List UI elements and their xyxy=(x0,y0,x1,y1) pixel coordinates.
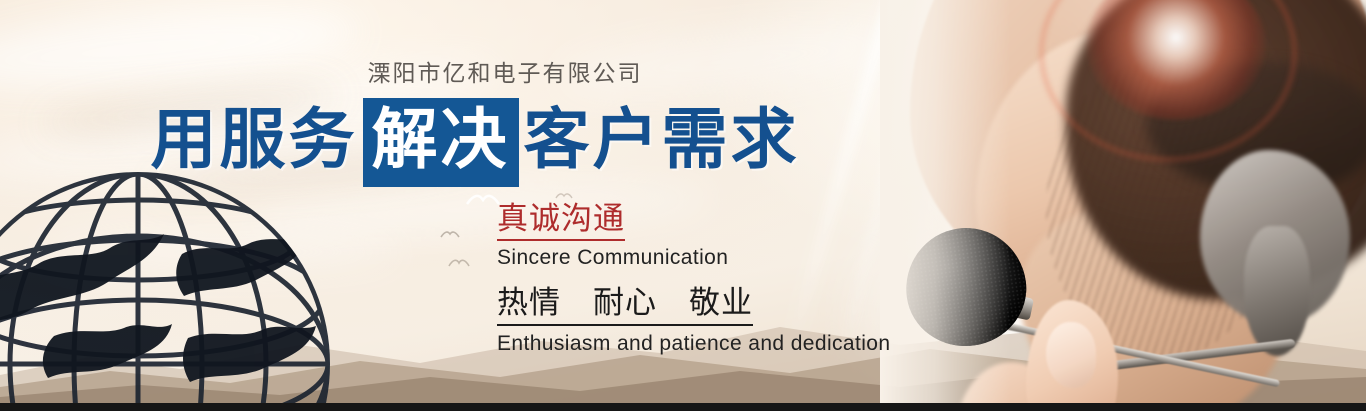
headset-earhook xyxy=(1244,226,1310,356)
headline-before: 用服务 xyxy=(151,101,358,178)
company-name: 溧阳市亿和电子有限公司 xyxy=(0,54,900,88)
banner-text-content: 溧阳市亿和电子有限公司 用服务解决客户需求 真诚沟通 Sincere Commu… xyxy=(0,0,900,403)
bottom-bar xyxy=(0,403,1366,411)
slogan-cn-sincere: 真诚沟通 xyxy=(497,200,625,241)
slogan-row-1: 真诚沟通 Sincere Communication xyxy=(497,200,890,273)
slogan-block: 真诚沟通 Sincere Communication 热情 耐心 敬业 Enth… xyxy=(497,200,890,359)
hero-banner: 溧阳市亿和电子有限公司 用服务解决客户需求 真诚沟通 Sincere Commu… xyxy=(0,0,1366,411)
headset-operator-photo xyxy=(880,0,1366,403)
headline-after: 客户需求 xyxy=(524,101,800,178)
headline: 用服务解决客户需求 xyxy=(0,98,900,187)
fingernail-shape xyxy=(1046,322,1096,388)
slogan-cn-enthusiasm: 热情 耐心 敬业 xyxy=(497,283,753,326)
slogan-row-2: 热情 耐心 敬业 Enthusiasm and patience and ded… xyxy=(497,273,890,359)
headline-highlight: 解决 xyxy=(363,98,519,187)
slogan-en-sincere: Sincere Communication xyxy=(497,243,890,273)
slogan-en-enthusiasm: Enthusiasm and patience and dedication xyxy=(497,329,890,359)
